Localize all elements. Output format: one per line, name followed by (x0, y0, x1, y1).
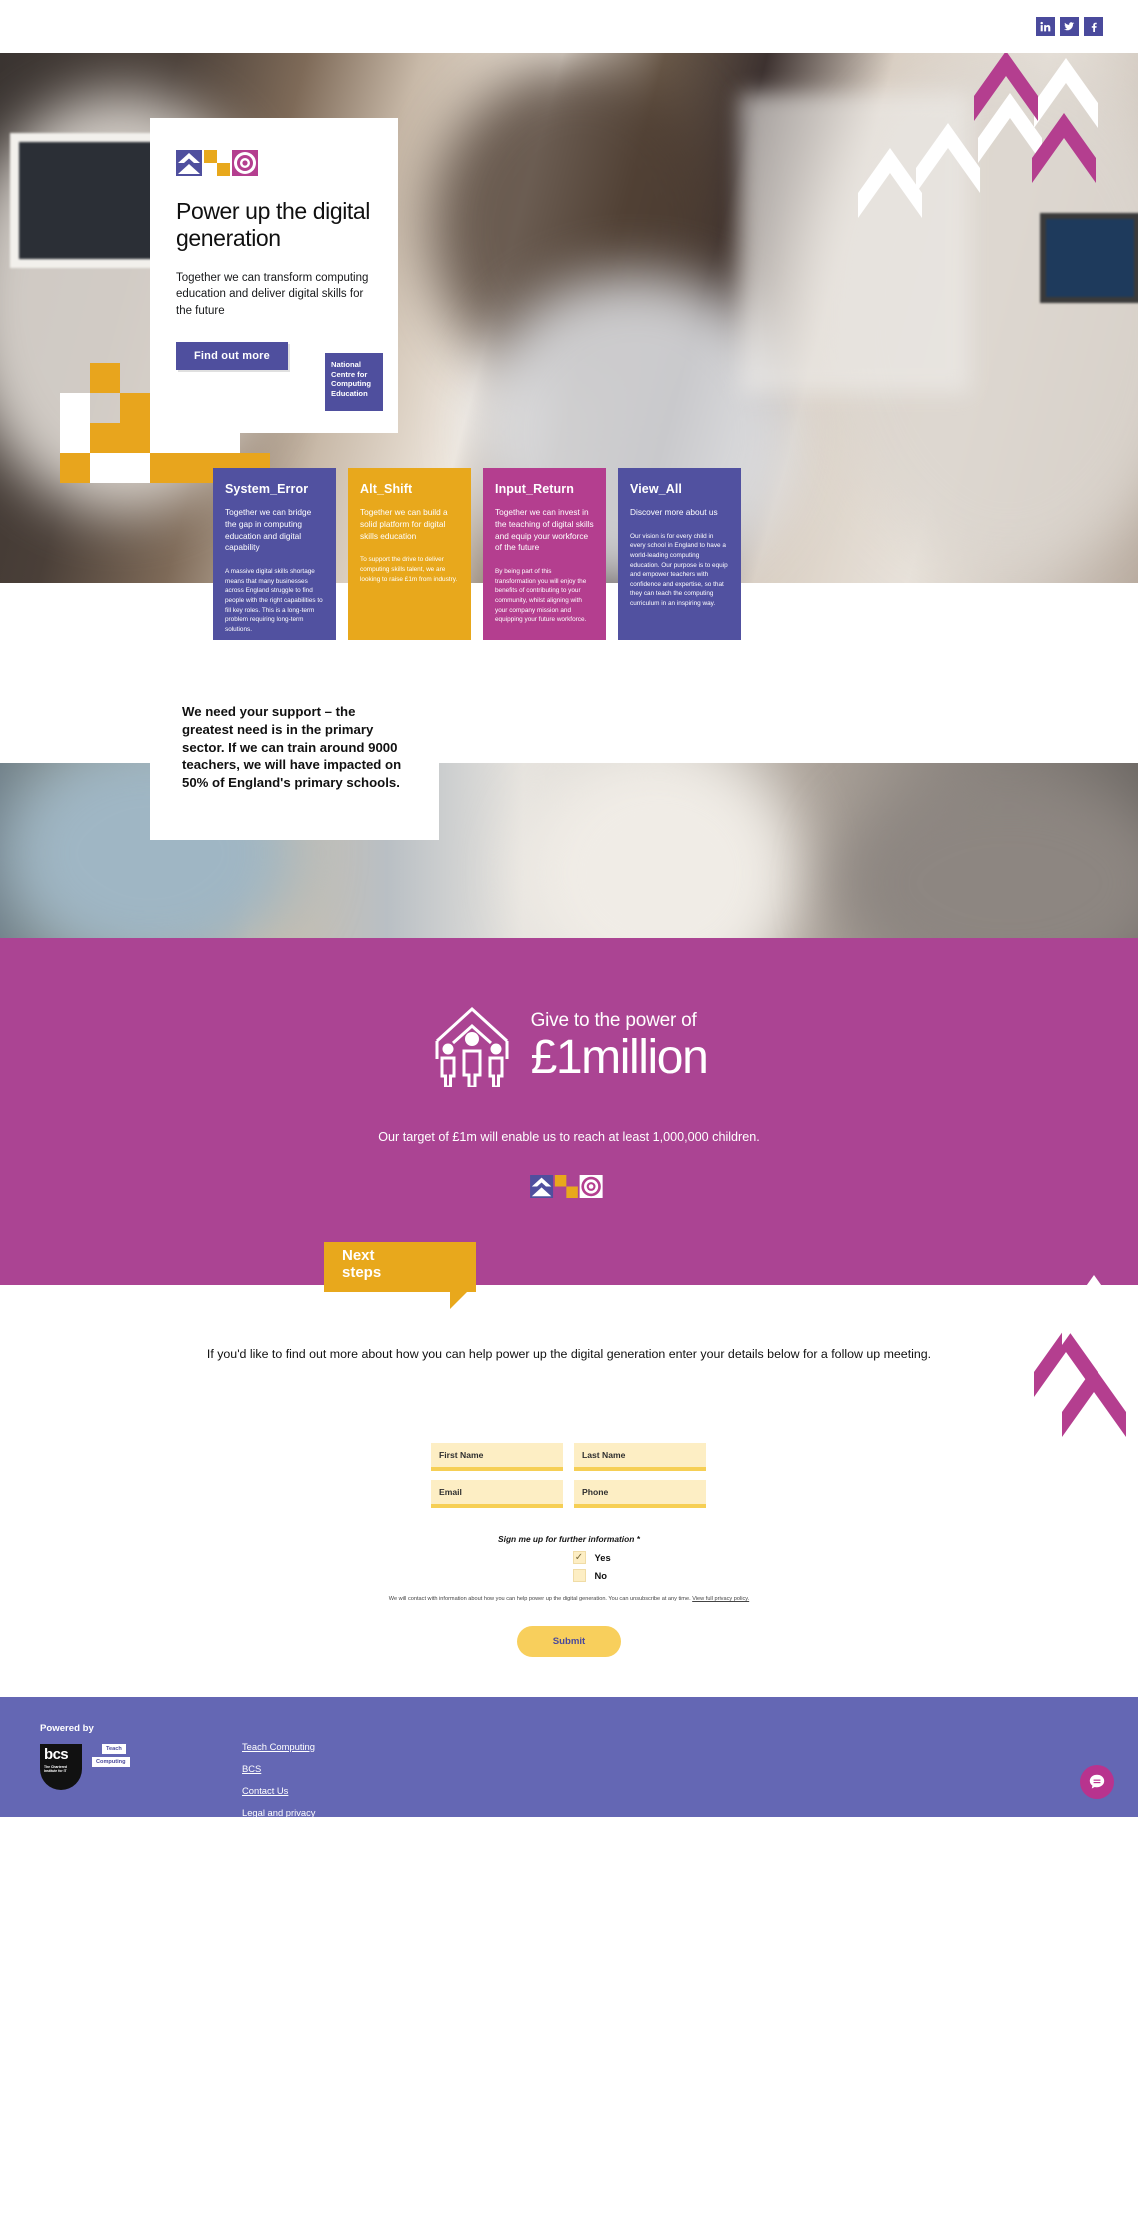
support-photo-blur (520, 763, 800, 938)
support-quote-card: We need your support – the greatest need… (150, 655, 439, 840)
footer-link-contact-us[interactable]: Contact Us (242, 1785, 316, 1796)
donate-small-text: Give to the power of (531, 1011, 708, 1030)
ncce-badge: National Centre for Computing Education (325, 353, 383, 411)
support-photo-blur (838, 773, 1138, 938)
card-lead: Together we can build a solid platform f… (360, 507, 459, 542)
footer-link-teach-computing[interactable]: Teach Computing (242, 1741, 316, 1752)
bcs-logo: bcs The Chartered Institute for IT (40, 1744, 82, 1790)
hero-subtitle: Together we can transform computing educ… (176, 270, 372, 320)
top-social-bar (0, 0, 1138, 53)
next-steps-line2: steps (342, 1265, 476, 1282)
optin-no-label: No (595, 1570, 631, 1581)
donate-headline: Give to the power of £1million (0, 1001, 1138, 1092)
ncce-logo-small (0, 1175, 1138, 1198)
legal-disclaimer: We will contact with information about h… (0, 1596, 1138, 1604)
signup-form-section: Sign me up for further information * ✓ Y… (0, 1415, 1138, 1697)
phone-input[interactable] (574, 1480, 706, 1508)
page-title: Power up the digital generation (176, 198, 372, 252)
submit-button[interactable]: Submit (517, 1626, 622, 1657)
card-lead: Together we can invest in the teaching o… (495, 507, 594, 554)
card-view-all[interactable]: View_All Discover more about us Our visi… (618, 468, 741, 640)
chat-bubble-icon[interactable] (1080, 1765, 1114, 1799)
card-body: By being part of this transformation you… (495, 567, 594, 625)
ncce-logo (176, 150, 372, 176)
card-title: Input_Return (495, 482, 594, 496)
footer-link-legal-and-privacy[interactable]: Legal and privacy (242, 1807, 316, 1817)
first-name-input[interactable] (431, 1443, 563, 1471)
optin-yes-row: ✓ Yes (0, 1551, 1138, 1564)
card-title: View_All (630, 482, 729, 496)
support-quote-text: We need your support – the greatest need… (182, 703, 407, 793)
card-title: Alt_Shift (360, 482, 459, 496)
powered-by-label: Powered by (40, 1723, 146, 1734)
optin-no-checkbox[interactable] (573, 1569, 586, 1582)
optin-yes-checkbox[interactable]: ✓ (573, 1551, 586, 1564)
form-fields (431, 1443, 707, 1508)
teach-computing-line1: Teach (102, 1744, 126, 1754)
optin-yes-label: Yes (595, 1552, 631, 1563)
donate-subtext: Our target of £1m will enable us to reac… (0, 1128, 1138, 1147)
bcs-wordmark: bcs (44, 1747, 78, 1762)
optin-no-row: No (0, 1569, 1138, 1582)
next-steps-section: Next steps If you'd like to find out mor… (0, 1285, 1138, 1415)
facebook-icon[interactable] (1084, 17, 1103, 36)
card-input-return[interactable]: Input_Return Together we can invest in t… (483, 468, 606, 640)
card-body: Our vision is for every child in every s… (630, 532, 729, 609)
footer-link-bcs[interactable]: BCS (242, 1763, 316, 1774)
linkedin-icon[interactable] (1036, 17, 1055, 36)
card-system-error[interactable]: System_Error Together we can bridge the … (213, 468, 336, 640)
donate-section: Give to the power of £1million Our targe… (0, 938, 1138, 1285)
last-name-input[interactable] (574, 1443, 706, 1471)
twitter-icon[interactable] (1060, 17, 1079, 36)
card-body: To support the drive to deliver computin… (360, 555, 459, 584)
next-steps-copy: If you'd like to find out more about how… (0, 1345, 1138, 1364)
site-footer: Powered by bcs The Chartered Institute f… (0, 1697, 1138, 1817)
find-out-more-button[interactable]: Find out more (176, 342, 288, 370)
family-house-icon (431, 1001, 513, 1092)
card-title: System_Error (225, 482, 324, 496)
bcs-tagline: The Chartered Institute for IT (44, 1765, 78, 1774)
card-body: A massive digital skills shortage means … (225, 567, 324, 634)
card-alt-shift[interactable]: Alt_Shift Together we can build a solid … (348, 468, 471, 640)
next-steps-line1: Next (342, 1248, 476, 1265)
next-steps-bubble: Next steps (324, 1242, 476, 1292)
teach-computing-logo: Teach Computing (92, 1744, 146, 1782)
privacy-policy-link[interactable]: View full privacy policy. (692, 1596, 749, 1602)
footer-links: Teach Computing BCS Contact Us Legal and… (242, 1723, 316, 1817)
optin-label: Sign me up for further information * (0, 1534, 1138, 1544)
email-input[interactable] (431, 1480, 563, 1508)
donate-amount: £1million (531, 1034, 708, 1083)
card-lead: Discover more about us (630, 507, 729, 519)
optin-group: Sign me up for further information * ✓ Y… (0, 1534, 1138, 1582)
card-lead: Together we can bridge the gap in comput… (225, 507, 324, 554)
legal-text: We will contact with information about h… (389, 1596, 692, 1602)
teach-computing-line2: Computing (92, 1757, 130, 1767)
landing-page: Power up the digital generation Together… (0, 0, 1138, 1817)
footer-branding: Powered by bcs The Chartered Institute f… (40, 1723, 146, 1817)
chevron-decoration-group (848, 53, 1138, 303)
cards-row: System_Error Together we can bridge the … (213, 468, 741, 640)
